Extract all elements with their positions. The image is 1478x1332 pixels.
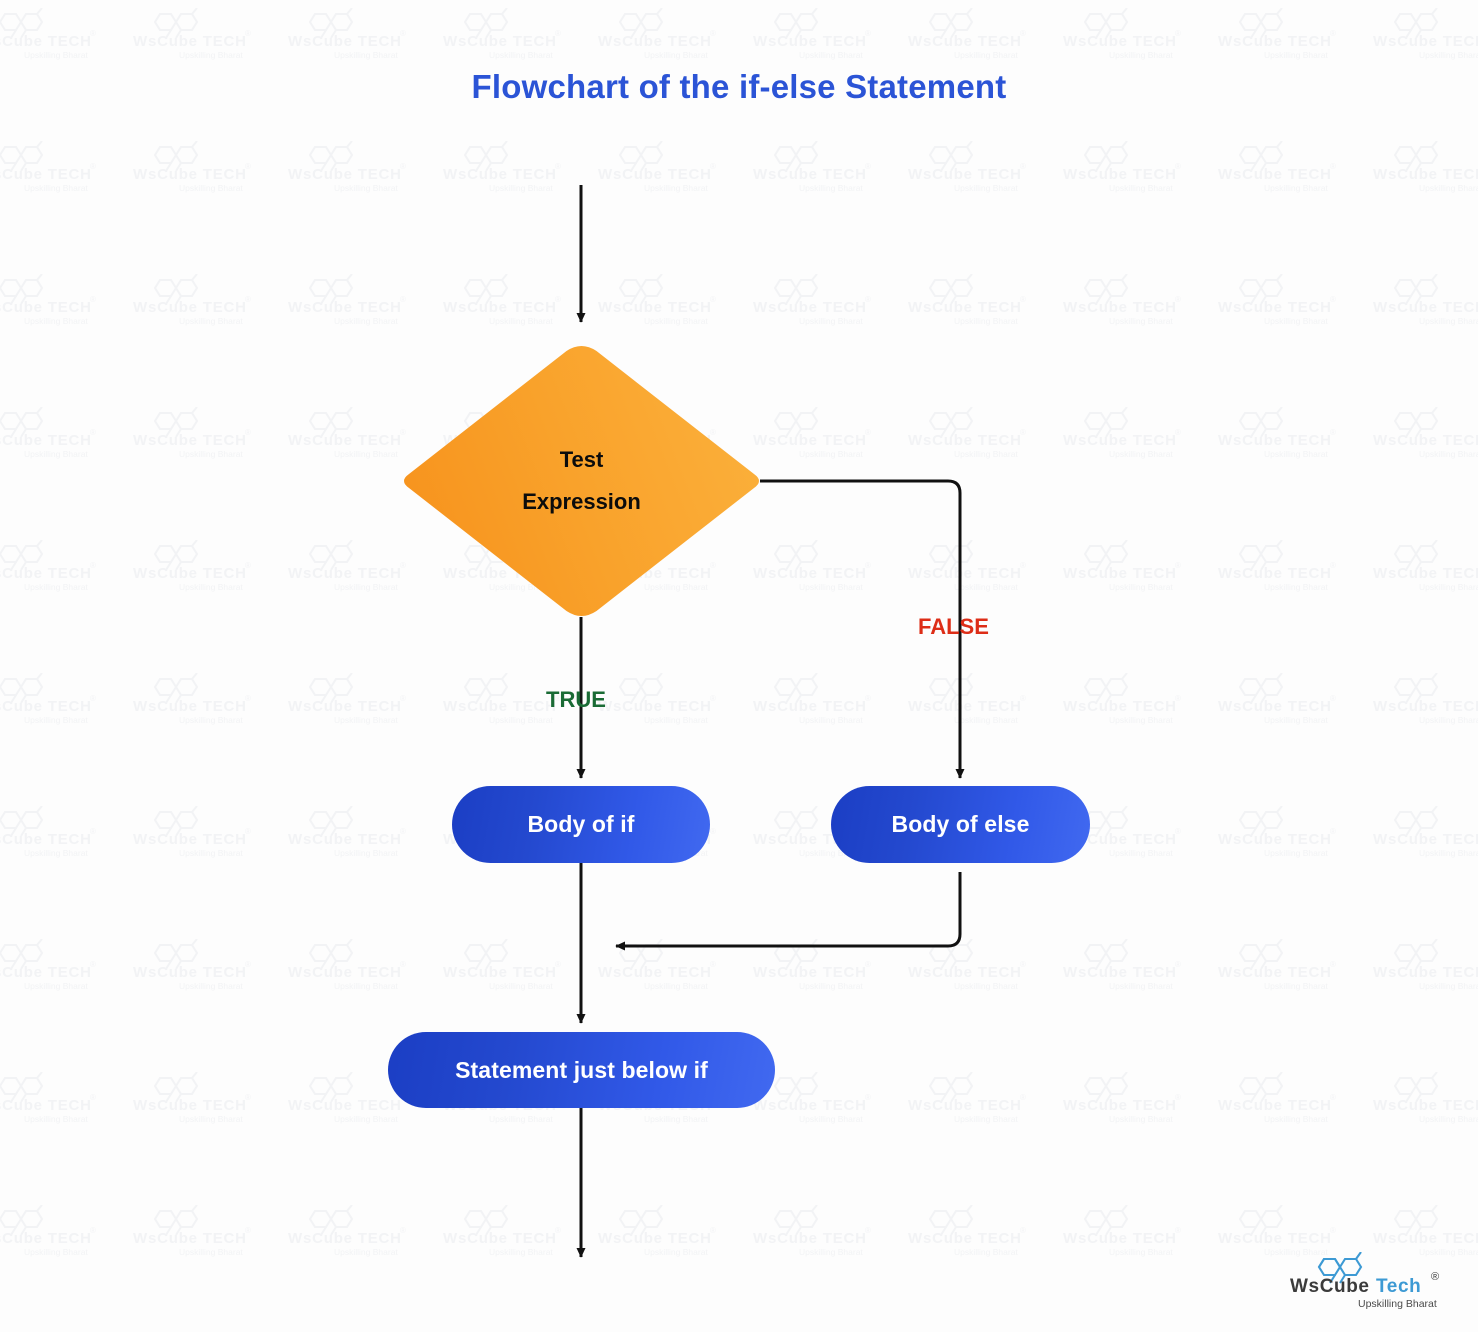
watermark-tile: WsCube TECHUpskilling Bharat® [1373,141,1478,197]
svg-text:Upskilling Bharat: Upskilling Bharat [1264,449,1328,459]
svg-text:Upskilling Bharat: Upskilling Bharat [24,715,88,725]
decision-node-test-expression[interactable]: Test Expression [403,345,760,617]
svg-text:®: ® [1175,827,1181,836]
svg-text:WsCube TECH: WsCube TECH [288,831,402,848]
svg-text:®: ® [1020,162,1026,171]
watermark-tile: WsCube TECHUpskilling Bharat® [753,1205,883,1261]
watermark-tile: WsCube TECHUpskilling Bharat® [133,806,263,862]
watermark-tile: WsCube TECHUpskilling Bharat® [1218,141,1348,197]
svg-text:Upskilling Bharat: Upskilling Bharat [954,183,1018,193]
svg-text:WsCube TECH: WsCube TECH [908,299,1022,316]
svg-text:WsCube TECH: WsCube TECH [133,33,247,50]
watermark-tile: WsCube TECHUpskilling Bharat® [288,1205,418,1261]
svg-text:Upskilling Bharat: Upskilling Bharat [954,1114,1018,1124]
watermark-tile: WsCube TECHUpskilling Bharat® [443,939,573,995]
svg-text:®: ® [1330,960,1336,969]
svg-text:WsCube TECH: WsCube TECH [753,299,867,316]
watermark-tile: WsCube TECHUpskilling Bharat® [0,806,108,862]
watermark-tile: WsCube TECHUpskilling Bharat® [598,939,728,995]
process-node-body-of-if-label: Body of if [527,811,634,838]
svg-text:®: ® [400,162,406,171]
svg-text:Upskilling Bharat: Upskilling Bharat [334,981,398,991]
svg-text:Upskilling Bharat: Upskilling Bharat [1109,316,1173,326]
watermark-tile: WsCube TECHUpskilling Bharat® [288,407,418,463]
watermark-tile: WsCube TECHUpskilling Bharat® [443,1205,573,1261]
svg-text:WsCube TECH: WsCube TECH [1063,698,1177,715]
svg-text:®: ® [1175,960,1181,969]
svg-text:®: ® [555,162,561,171]
svg-text:Upskilling Bharat: Upskilling Bharat [24,1114,88,1124]
svg-text:®: ® [1175,1226,1181,1235]
svg-text:®: ® [245,960,251,969]
watermark-tile: WsCube TECHUpskilling Bharat® [753,8,883,64]
svg-text:WsCube TECH: WsCube TECH [753,565,867,582]
svg-text:WsCube TECH: WsCube TECH [443,964,557,981]
watermark-tile: WsCube TECHUpskilling Bharat® [598,274,728,330]
svg-text:Upskilling Bharat: Upskilling Bharat [1109,981,1173,991]
svg-text:Upskilling Bharat: Upskilling Bharat [644,715,708,725]
process-node-statement-below-if[interactable]: Statement just below if [388,1032,775,1108]
svg-text:®: ® [710,960,716,969]
svg-text:®: ® [1175,295,1181,304]
watermark-tile: WsCube TECHUpskilling Bharat® [1063,141,1193,197]
watermark-tile: WsCube TECHUpskilling Bharat® [908,673,1038,729]
watermark-tile: WsCube TECHUpskilling Bharat® [1218,939,1348,995]
svg-text:®: ® [865,295,871,304]
watermark-tile: WsCube TECHUpskilling Bharat® [908,274,1038,330]
svg-text:®: ® [90,428,96,437]
svg-text:WsCube TECH: WsCube TECH [753,166,867,183]
svg-text:WsCube TECH: WsCube TECH [753,432,867,449]
svg-text:Upskilling Bharat: Upskilling Bharat [179,981,243,991]
svg-text:®: ® [245,694,251,703]
svg-text:Upskilling Bharat: Upskilling Bharat [489,981,553,991]
svg-text:WsCube TECH: WsCube TECH [133,565,247,582]
svg-text:®: ® [1330,561,1336,570]
svg-text:WsCube TECH: WsCube TECH [1373,166,1478,183]
svg-text:Upskilling Bharat: Upskilling Bharat [489,715,553,725]
svg-text:®: ® [1330,162,1336,171]
svg-text:®: ® [1175,428,1181,437]
watermark-tile: WsCube TECHUpskilling Bharat® [133,540,263,596]
svg-text:®: ® [90,162,96,171]
watermark-tile: WsCube TECHUpskilling Bharat® [1218,1072,1348,1128]
svg-text:WsCube TECH: WsCube TECH [1218,299,1332,316]
watermark-tile: WsCube TECHUpskilling Bharat® [133,1205,263,1261]
brand-logo: WsCube Tech ® Upskilling Bharat [1288,1252,1458,1314]
svg-text:WsCube TECH: WsCube TECH [288,964,402,981]
svg-text:Upskilling Bharat: Upskilling Bharat [179,1114,243,1124]
svg-text:®: ® [555,295,561,304]
svg-text:WsCube TECH: WsCube TECH [0,1230,92,1247]
svg-text:WsCube TECH: WsCube TECH [0,831,92,848]
watermark-tile: WsCube TECHUpskilling Bharat® [443,8,573,64]
watermark-tile: WsCube TECHUpskilling Bharat® [1373,1072,1478,1128]
svg-text:®: ® [1175,694,1181,703]
watermark-tile: WsCube TECHUpskilling Bharat® [288,806,418,862]
svg-text:®: ® [555,29,561,38]
svg-text:WsCube TECH: WsCube TECH [908,698,1022,715]
svg-text:WsCube TECH: WsCube TECH [1063,432,1177,449]
svg-text:WsCube TECH: WsCube TECH [0,33,92,50]
svg-text:®: ® [1020,1226,1026,1235]
svg-text:®: ® [245,1093,251,1102]
watermark-tile: WsCube TECHUpskilling Bharat® [1063,673,1193,729]
svg-text:®: ® [1330,827,1336,836]
svg-text:WsCube TECH: WsCube TECH [133,1230,247,1247]
svg-text:WsCube TECH: WsCube TECH [753,964,867,981]
svg-text:Upskilling Bharat: Upskilling Bharat [799,316,863,326]
svg-text:Upskilling Bharat: Upskilling Bharat [1264,316,1328,326]
svg-text:Upskilling Bharat: Upskilling Bharat [334,1114,398,1124]
svg-text:WsCube TECH: WsCube TECH [133,698,247,715]
watermark-tile: WsCube TECHUpskilling Bharat® [908,141,1038,197]
svg-text:Upskilling Bharat: Upskilling Bharat [1264,50,1328,60]
connector-layer [0,0,1478,1332]
edge-bodyelse-merge [616,872,960,946]
svg-text:WsCube TECH: WsCube TECH [0,964,92,981]
watermark-tile: WsCube TECHUpskilling Bharat® [753,673,883,729]
watermark-tile: WsCube TECHUpskilling Bharat® [0,939,108,995]
edge-label-true: TRUE [546,687,606,713]
watermark-tile: WsCube TECHUpskilling Bharat® [0,8,108,64]
svg-text:Upskilling Bharat: Upskilling Bharat [954,316,1018,326]
svg-text:®: ® [90,1093,96,1102]
svg-text:WsCube TECH: WsCube TECH [1063,299,1177,316]
svg-text:Upskilling Bharat: Upskilling Bharat [179,449,243,459]
watermark-tile: WsCube TECHUpskilling Bharat® [1373,8,1478,64]
svg-text:Upskilling Bharat: Upskilling Bharat [1419,183,1478,193]
watermark-tile: WsCube TECHUpskilling Bharat® [288,673,418,729]
svg-text:WsCube TECH: WsCube TECH [1063,565,1177,582]
svg-text:®: ® [400,1226,406,1235]
svg-text:WsCube TECH: WsCube TECH [753,1230,867,1247]
decision-node-label: Test Expression [403,345,760,617]
watermark-tile: WsCube TECHUpskilling Bharat® [0,407,108,463]
svg-text:WsCube TECH: WsCube TECH [288,698,402,715]
svg-text:®: ® [555,1226,561,1235]
watermark-tile: WsCube TECHUpskilling Bharat® [908,1072,1038,1128]
svg-text:WsCube TECH: WsCube TECH [753,698,867,715]
svg-text:WsCube TECH: WsCube TECH [908,1097,1022,1114]
svg-text:Upskilling Bharat: Upskilling Bharat [24,848,88,858]
svg-text:®: ® [1020,694,1026,703]
svg-text:WsCube TECH: WsCube TECH [1373,1230,1478,1247]
svg-text:®: ® [1020,960,1026,969]
svg-text:Upskilling Bharat: Upskilling Bharat [1419,981,1478,991]
svg-text:Upskilling Bharat: Upskilling Bharat [1264,981,1328,991]
process-node-body-of-if[interactable]: Body of if [452,786,710,863]
watermark-tile: WsCube TECHUpskilling Bharat® [1063,1205,1193,1261]
svg-text:Upskilling Bharat: Upskilling Bharat [179,848,243,858]
svg-text:Upskilling Bharat: Upskilling Bharat [799,715,863,725]
svg-text:WsCube TECH: WsCube TECH [598,698,712,715]
svg-text:Upskilling Bharat: Upskilling Bharat [954,715,1018,725]
watermark-tile: WsCube TECHUpskilling Bharat® [288,141,418,197]
watermark-tile: WsCube TECHUpskilling Bharat® [1063,939,1193,995]
svg-text:Upskilling Bharat: Upskilling Bharat [954,449,1018,459]
svg-text:Upskilling Bharat: Upskilling Bharat [489,183,553,193]
svg-text:Upskilling Bharat: Upskilling Bharat [489,316,553,326]
svg-text:Upskilling Bharat: Upskilling Bharat [334,1247,398,1257]
svg-text:®: ® [245,827,251,836]
svg-text:WsCube TECH: WsCube TECH [908,964,1022,981]
svg-text:®: ® [1020,561,1026,570]
svg-text:Upskilling Bharat: Upskilling Bharat [179,1247,243,1257]
watermark-tile: WsCube TECHUpskilling Bharat® [133,141,263,197]
svg-text:Upskilling Bharat: Upskilling Bharat [954,50,1018,60]
svg-text:®: ® [90,1226,96,1235]
svg-text:WsCube TECH: WsCube TECH [753,1097,867,1114]
decision-label-line1: Test [560,439,604,481]
process-node-body-of-else[interactable]: Body of else [831,786,1090,863]
svg-text:Upskilling Bharat: Upskilling Bharat [644,1247,708,1257]
svg-text:WsCube TECH: WsCube TECH [1218,565,1332,582]
watermark-tile: WsCube TECHUpskilling Bharat® [288,8,418,64]
watermark-tile: WsCube TECHUpskilling Bharat® [1063,407,1193,463]
svg-text:WsCube TECH: WsCube TECH [1218,1097,1332,1114]
svg-text:Upskilling Bharat: Upskilling Bharat [24,50,88,60]
svg-text:®: ® [1330,1226,1336,1235]
svg-text:WsCube TECH: WsCube TECH [1373,33,1478,50]
svg-text:WsCube TECH: WsCube TECH [753,33,867,50]
svg-text:®: ® [90,561,96,570]
svg-text:®: ® [1330,428,1336,437]
svg-text:®: ® [1175,162,1181,171]
svg-text:Upskilling Bharat: Upskilling Bharat [334,50,398,60]
svg-text:®: ® [400,827,406,836]
watermark-tile: WsCube TECHUpskilling Bharat® [1218,8,1348,64]
svg-text:Upskilling Bharat: Upskilling Bharat [799,981,863,991]
svg-text:WsCube TECH: WsCube TECH [1373,831,1478,848]
svg-text:Upskilling Bharat: Upskilling Bharat [1419,582,1478,592]
logo-wordmark-secondary: Tech [1376,1276,1421,1297]
svg-text:Upskilling Bharat: Upskilling Bharat [1419,316,1478,326]
svg-text:WsCube TECH: WsCube TECH [1373,1097,1478,1114]
svg-text:WsCube TECH: WsCube TECH [598,33,712,50]
svg-text:WsCube TECH: WsCube TECH [133,831,247,848]
watermark-tile: WsCube TECHUpskilling Bharat® [443,274,573,330]
svg-text:®: ® [1020,428,1026,437]
watermark-tile: WsCube TECHUpskilling Bharat® [0,1205,108,1261]
edge-label-false: FALSE [918,614,989,640]
watermark-tile: WsCube TECHUpskilling Bharat® [1373,407,1478,463]
svg-text:Upskilling Bharat: Upskilling Bharat [954,582,1018,592]
watermark-tile: WsCube TECHUpskilling Bharat® [753,407,883,463]
watermark-tile: WsCube TECHUpskilling Bharat® [133,939,263,995]
watermark-tile: WsCube TECHUpskilling Bharat® [598,141,728,197]
svg-text:WsCube TECH: WsCube TECH [0,698,92,715]
svg-text:Upskilling Bharat: Upskilling Bharat [644,50,708,60]
svg-text:®: ® [245,428,251,437]
watermark-tile: WsCube TECHUpskilling Bharat® [753,141,883,197]
watermark-tile: WsCube TECHUpskilling Bharat® [1218,407,1348,463]
watermark-tile: WsCube TECHUpskilling Bharat® [1373,806,1478,862]
svg-text:WsCube TECH: WsCube TECH [1218,33,1332,50]
svg-text:®: ® [865,561,871,570]
svg-text:Upskilling Bharat: Upskilling Bharat [334,449,398,459]
svg-text:WsCube TECH: WsCube TECH [443,299,557,316]
svg-text:WsCube TECH: WsCube TECH [0,166,92,183]
svg-text:Upskilling Bharat: Upskilling Bharat [24,449,88,459]
svg-text:Upskilling Bharat: Upskilling Bharat [644,981,708,991]
svg-text:Upskilling Bharat: Upskilling Bharat [954,981,1018,991]
svg-text:WsCube TECH: WsCube TECH [1218,698,1332,715]
watermark-tile: WsCube TECHUpskilling Bharat® [1063,540,1193,596]
svg-text:®: ® [1330,694,1336,703]
svg-text:®: ® [90,827,96,836]
svg-text:WsCube TECH: WsCube TECH [1063,33,1177,50]
svg-text:®: ® [710,295,716,304]
svg-text:®: ® [865,428,871,437]
watermark-tile: WsCube TECHUpskilling Bharat® [0,141,108,197]
svg-text:WsCube TECH: WsCube TECH [288,1097,402,1114]
watermark-tile: WsCube TECHUpskilling Bharat® [908,939,1038,995]
svg-text:WsCube TECH: WsCube TECH [443,166,557,183]
svg-text:WsCube TECH: WsCube TECH [908,166,1022,183]
svg-text:WsCube TECH: WsCube TECH [1373,432,1478,449]
svg-text:WsCube TECH: WsCube TECH [1373,565,1478,582]
svg-text:WsCube TECH: WsCube TECH [288,1230,402,1247]
watermark-tile: WsCube TECHUpskilling Bharat® [908,1205,1038,1261]
svg-text:Upskilling Bharat: Upskilling Bharat [24,981,88,991]
svg-text:®: ® [710,1226,716,1235]
svg-text:Upskilling Bharat: Upskilling Bharat [489,1247,553,1257]
svg-text:WsCube TECH: WsCube TECH [908,432,1022,449]
svg-text:Upskilling Bharat: Upskilling Bharat [799,50,863,60]
svg-text:®: ® [90,29,96,38]
svg-text:Upskilling Bharat: Upskilling Bharat [1264,1114,1328,1124]
svg-text:®: ® [1020,1093,1026,1102]
logo-wordmark-primary: WsCube [1290,1276,1370,1297]
watermark-tile: WsCube TECHUpskilling Bharat® [1218,274,1348,330]
svg-text:Upskilling Bharat: Upskilling Bharat [1109,183,1173,193]
svg-text:WsCube TECH: WsCube TECH [288,565,402,582]
svg-text:Upskilling Bharat: Upskilling Bharat [334,316,398,326]
svg-text:WsCube TECH: WsCube TECH [1218,964,1332,981]
watermark-tile: WsCube TECHUpskilling Bharat® [0,274,108,330]
watermark-tile: WsCube TECHUpskilling Bharat® [598,8,728,64]
watermark-tile: WsCube TECHUpskilling Bharat® [753,939,883,995]
process-node-body-of-else-label: Body of else [892,811,1030,838]
svg-text:Upskilling Bharat: Upskilling Bharat [1264,183,1328,193]
watermark-tile: WsCube TECHUpskilling Bharat® [443,141,573,197]
svg-text:Upskilling Bharat: Upskilling Bharat [179,316,243,326]
watermark-tile: WsCube TECHUpskilling Bharat® [133,673,263,729]
svg-text:WsCube TECH: WsCube TECH [1373,299,1478,316]
svg-text:Upskilling Bharat: Upskilling Bharat [334,183,398,193]
svg-text:WsCube TECH: WsCube TECH [288,299,402,316]
watermark-tile: WsCube TECHUpskilling Bharat® [133,8,263,64]
svg-text:Upskilling Bharat: Upskilling Bharat [179,715,243,725]
svg-text:WsCube TECH: WsCube TECH [0,1097,92,1114]
process-node-statement-label: Statement just below if [455,1057,708,1084]
svg-text:Upskilling Bharat: Upskilling Bharat [334,848,398,858]
svg-text:WsCube TECH: WsCube TECH [1218,432,1332,449]
svg-text:WsCube TECH: WsCube TECH [0,299,92,316]
svg-text:Upskilling Bharat: Upskilling Bharat [1109,715,1173,725]
watermark-tile: WsCube TECHUpskilling Bharat® [1218,673,1348,729]
svg-text:Upskilling Bharat: Upskilling Bharat [644,183,708,193]
svg-text:WsCube TECH: WsCube TECH [1218,831,1332,848]
watermark-tile: WsCube TECHUpskilling Bharat® [908,8,1038,64]
svg-text:Upskilling Bharat: Upskilling Bharat [1109,1247,1173,1257]
svg-text:WsCube TECH: WsCube TECH [133,964,247,981]
watermark-tile: WsCube TECHUpskilling Bharat® [1218,806,1348,862]
watermark-tile: WsCube TECHUpskilling Bharat® [1218,540,1348,596]
svg-text:®: ® [710,694,716,703]
svg-text:Upskilling Bharat: Upskilling Bharat [644,316,708,326]
svg-text:®: ® [865,694,871,703]
watermark-tile: WsCube TECHUpskilling Bharat® [0,540,108,596]
svg-text:WsCube TECH: WsCube TECH [598,964,712,981]
svg-text:WsCube TECH: WsCube TECH [1063,166,1177,183]
svg-text:WsCube TECH: WsCube TECH [1373,698,1478,715]
svg-text:Upskilling Bharat: Upskilling Bharat [24,183,88,193]
svg-text:®: ® [90,960,96,969]
svg-text:®: ® [1175,1093,1181,1102]
svg-text:Upskilling Bharat: Upskilling Bharat [1109,449,1173,459]
watermark-tile: WsCube TECHUpskilling Bharat® [753,274,883,330]
watermark-tile: WsCube TECHUpskilling Bharat® [1063,274,1193,330]
svg-text:Upskilling Bharat: Upskilling Bharat [489,50,553,60]
svg-text:®: ® [90,694,96,703]
svg-text:Upskilling Bharat: Upskilling Bharat [1109,848,1173,858]
svg-text:Upskilling Bharat: Upskilling Bharat [489,1114,553,1124]
svg-text:Upskilling Bharat: Upskilling Bharat [644,1114,708,1124]
svg-text:®: ® [1330,1093,1336,1102]
svg-text:®: ® [1020,29,1026,38]
logo-registered-mark: ® [1431,1271,1439,1283]
svg-text:WsCube TECH: WsCube TECH [1063,1230,1177,1247]
svg-text:Upskilling Bharat: Upskilling Bharat [1419,449,1478,459]
svg-text:Upskilling Bharat: Upskilling Bharat [1109,1114,1173,1124]
watermark-tile: WsCube TECHUpskilling Bharat® [133,1072,263,1128]
logo-tagline: Upskilling Bharat [1358,1298,1437,1310]
svg-text:Upskilling Bharat: Upskilling Bharat [1264,848,1328,858]
svg-text:Upskilling Bharat: Upskilling Bharat [179,582,243,592]
svg-text:®: ® [1020,295,1026,304]
watermark-tile: WsCube TECHUpskilling Bharat® [908,407,1038,463]
svg-text:Upskilling Bharat: Upskilling Bharat [24,316,88,326]
svg-text:WsCube TECH: WsCube TECH [443,1230,557,1247]
svg-text:WsCube TECH: WsCube TECH [908,1230,1022,1247]
svg-text:WsCube TECH: WsCube TECH [598,299,712,316]
svg-text:®: ® [1330,295,1336,304]
watermark-tile: WsCube TECHUpskilling Bharat® [133,274,263,330]
svg-text:®: ® [400,960,406,969]
svg-text:®: ® [400,295,406,304]
brand-logo-svg: WsCube Tech ® Upskilling Bharat [1288,1252,1458,1314]
svg-text:Upskilling Bharat: Upskilling Bharat [799,449,863,459]
watermark-tile: WsCube TECHUpskilling Bharat® [1373,540,1478,596]
svg-text:Upskilling Bharat: Upskilling Bharat [334,582,398,592]
watermark-tile: WsCube TECHUpskilling Bharat® [1063,8,1193,64]
watermark-tile: WsCube TECHUpskilling Bharat® [1063,1072,1193,1128]
svg-text:®: ® [245,29,251,38]
svg-text:Upskilling Bharat: Upskilling Bharat [1109,582,1173,592]
svg-text:Upskilling Bharat: Upskilling Bharat [179,183,243,193]
svg-text:®: ® [400,29,406,38]
svg-text:®: ® [865,29,871,38]
svg-text:®: ® [710,162,716,171]
svg-text:®: ® [865,1093,871,1102]
svg-text:WsCube TECH: WsCube TECH [288,33,402,50]
svg-text:Upskilling Bharat: Upskilling Bharat [1109,50,1173,60]
svg-text:WsCube TECH: WsCube TECH [1218,1230,1332,1247]
flowchart-page: WsCube TECHUpskilling Bharat®WsCube TECH… [0,0,1478,1332]
decision-label-line2: Expression [522,481,641,523]
